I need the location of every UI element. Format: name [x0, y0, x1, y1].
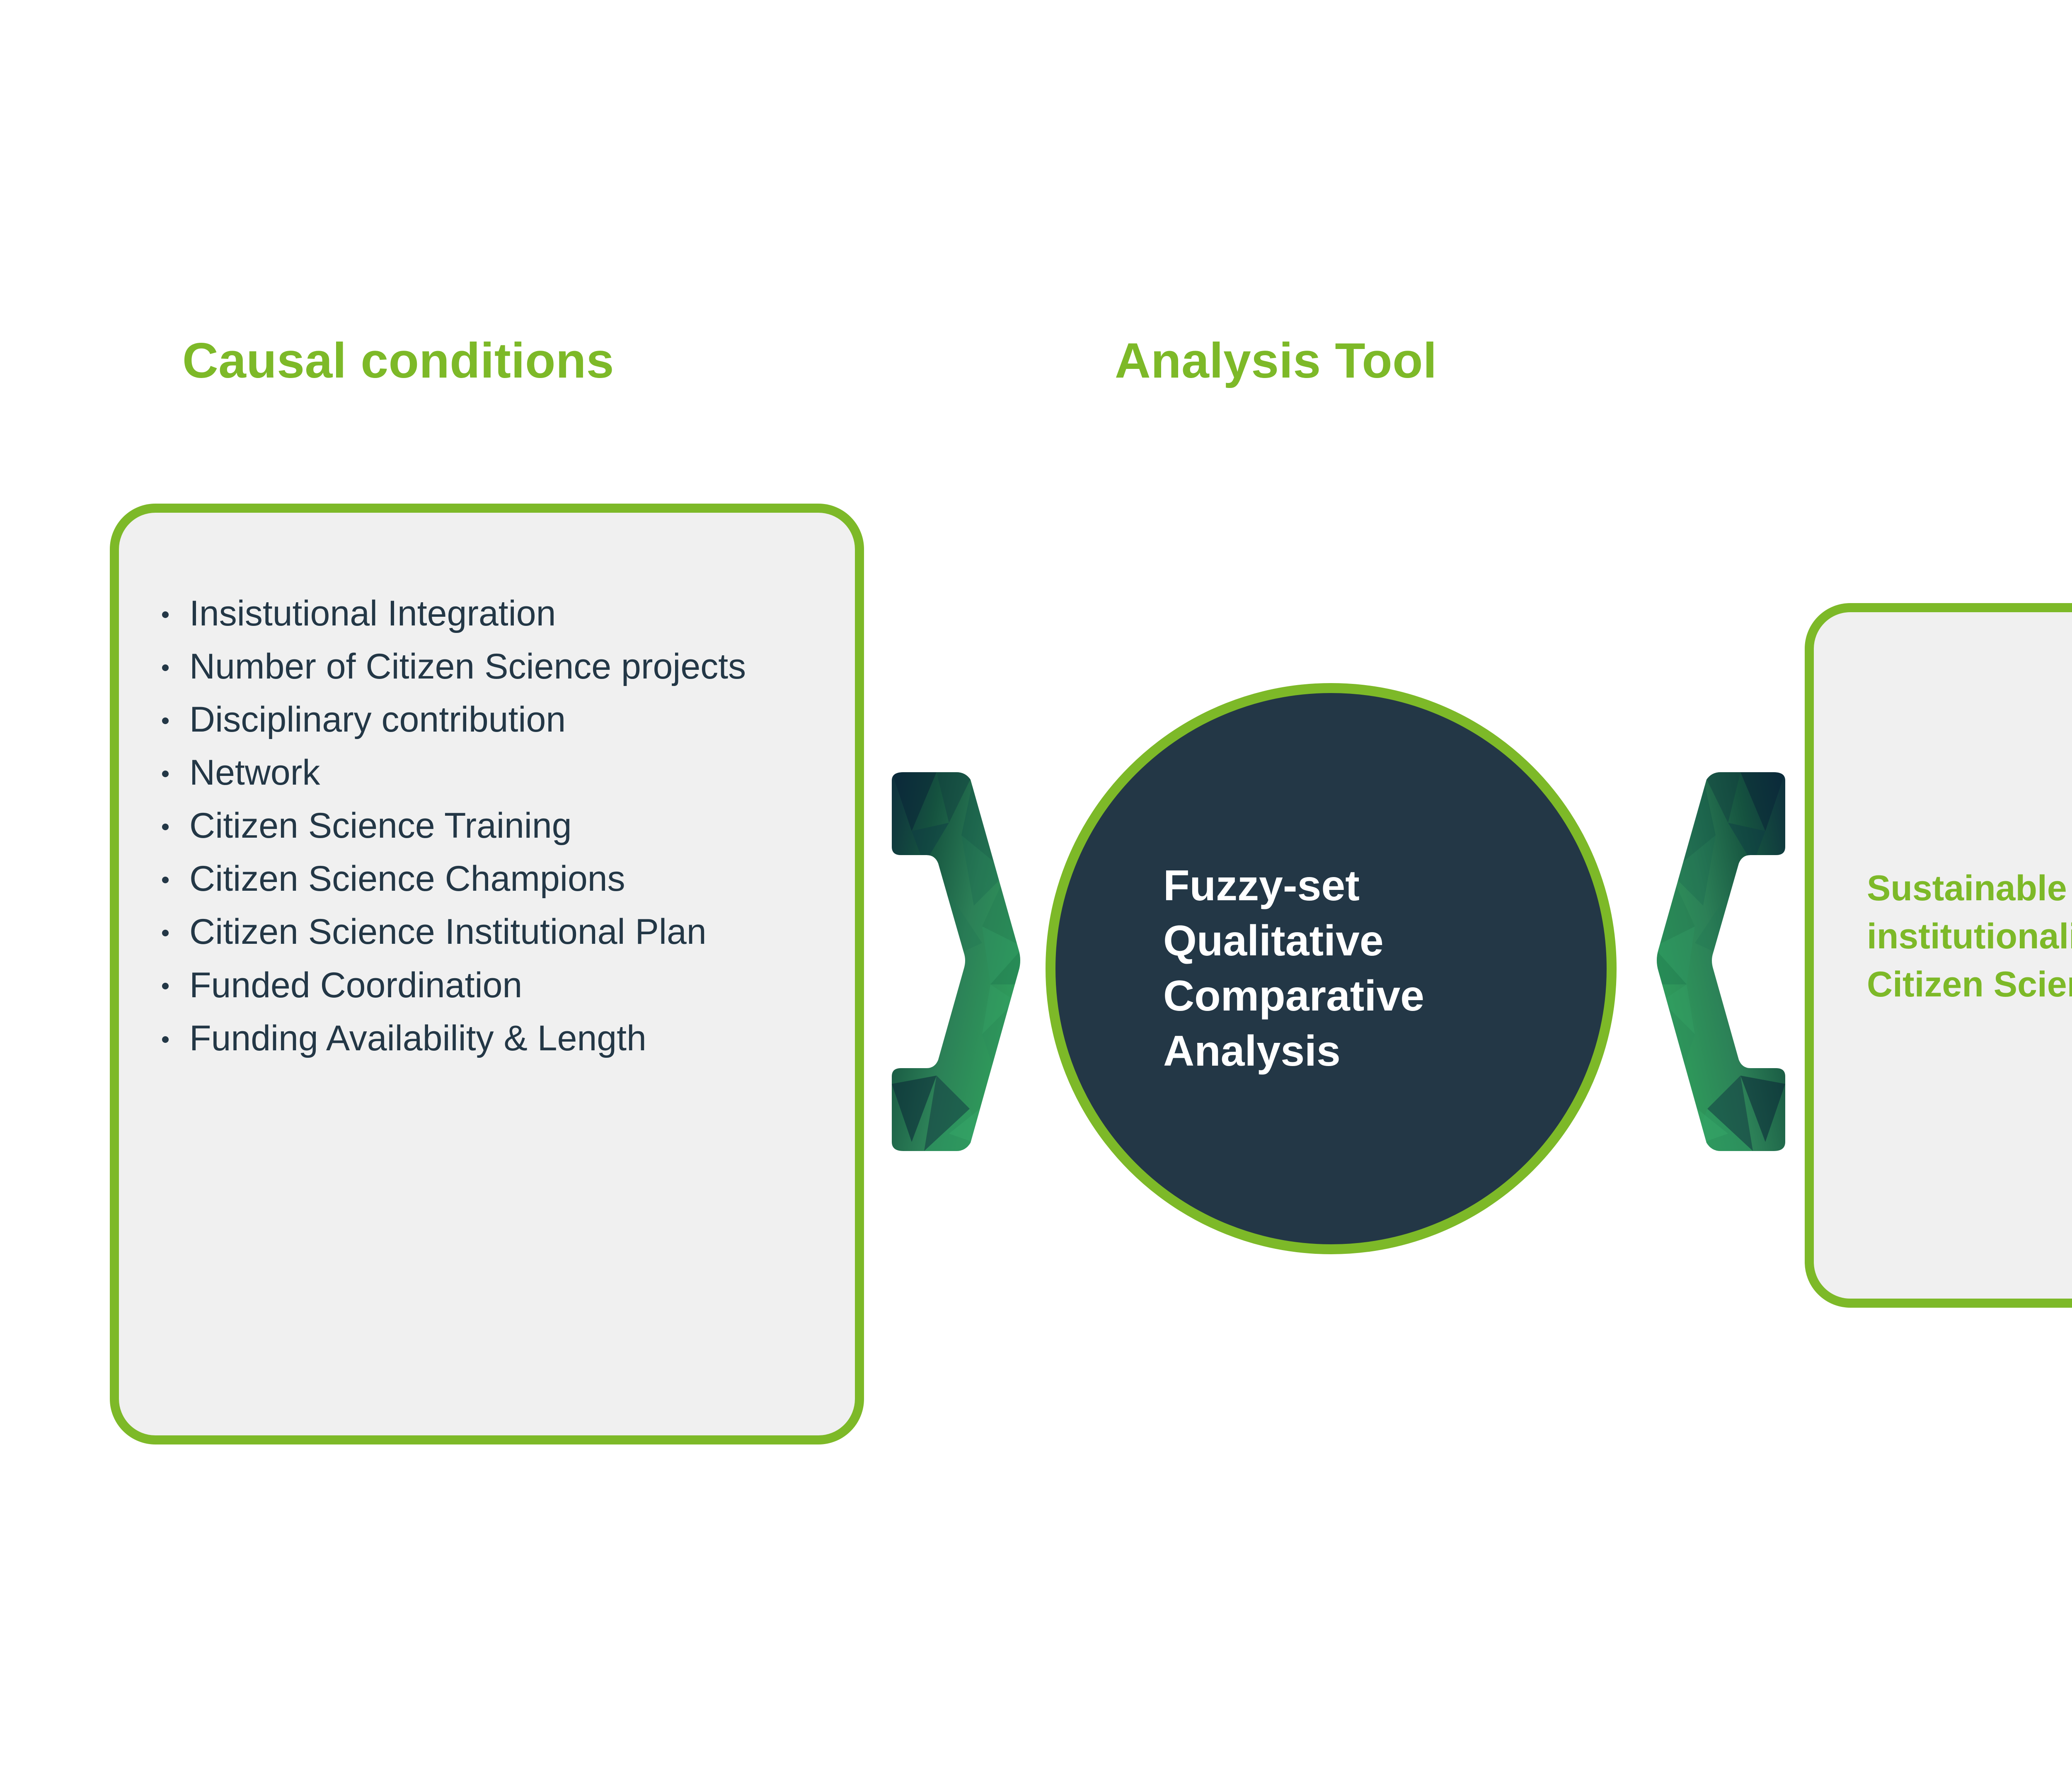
list-item: Citizen Science Champions: [160, 856, 843, 902]
list-item: Disciplinary contribution: [160, 697, 843, 742]
list-item: Insistutional Integration: [160, 591, 843, 636]
list-item: Funded Coordination: [160, 962, 843, 1008]
chevron-right-arrow-icon: [887, 769, 1024, 1154]
column-title-causal-conditions: Causal conditions: [182, 336, 614, 385]
column-title-analysis-tool: Analysis Tool: [1115, 336, 1437, 385]
list-item: Funding Availability & Length: [160, 1015, 843, 1061]
list-item: Citizen Science Training: [160, 803, 843, 848]
outcome-statement: Sustainable institutionalisation of Citi…: [1867, 864, 2072, 1008]
diagram-canvas: Causal conditions Analysis Tool Outcome …: [0, 0, 2072, 1791]
list-item: Number of Citizen Science projects: [160, 644, 843, 689]
analysis-tool-circle: Fuzzy-set Qualitative Comparative Analys…: [1046, 683, 1617, 1254]
causal-conditions-list: Insistutional Integration Number of Citi…: [160, 591, 843, 1069]
list-item: Citizen Science Institutional Plan: [160, 909, 843, 955]
chevron-left-arrow-icon: [1653, 769, 1790, 1154]
list-item: Network: [160, 750, 843, 795]
analysis-tool-label: Fuzzy-set Qualitative Comparative Analys…: [1163, 858, 1470, 1079]
